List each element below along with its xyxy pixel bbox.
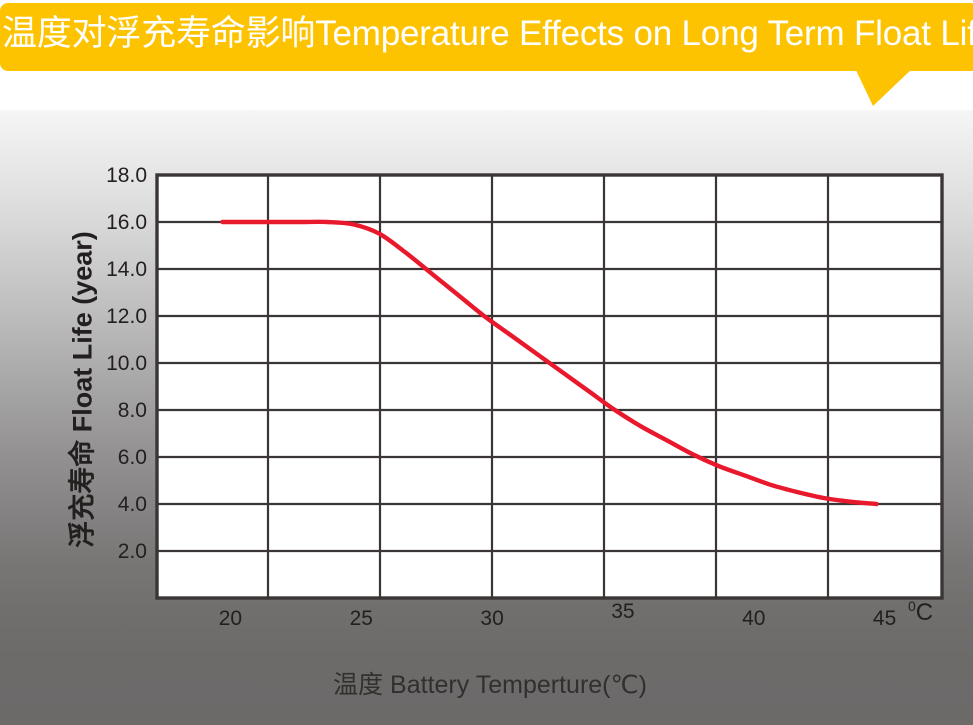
y-tick-label: 6.0 [118, 446, 147, 469]
y-tick-label: 2.0 [118, 540, 147, 563]
y-axis-tick-labels: 2.04.06.08.010.012.014.016.018.0 [106, 164, 147, 563]
x-axis-unit-label: 0C [908, 598, 933, 627]
y-tick-label: 4.0 [118, 493, 147, 516]
y-axis-title: 浮充寿命 Float Life (year) [61, 155, 100, 625]
x-axis-tick-labels: 202530354045 [219, 600, 897, 630]
y-tick-label: 18.0 [106, 164, 147, 187]
y-tick-label: 12.0 [106, 305, 147, 328]
x-tick-label: 35 [611, 600, 634, 623]
degree-superscript: 0 [908, 598, 916, 614]
x-tick-label: 20 [219, 607, 242, 630]
chart-page: 温度对浮充寿命影响Temperature Effects on Long Ter… [0, 0, 973, 725]
plot-background [157, 175, 942, 598]
chart-canvas: 2.04.06.08.010.012.014.016.018.0 2025303… [0, 0, 973, 725]
x-tick-label: 40 [742, 607, 765, 630]
x-tick-label: 30 [480, 607, 503, 630]
y-tick-label: 16.0 [106, 211, 147, 234]
x-tick-label: 45 [873, 607, 896, 630]
y-tick-label: 14.0 [106, 258, 147, 281]
celsius-letter: C [916, 599, 933, 626]
y-tick-label: 8.0 [118, 399, 147, 422]
x-tick-label: 25 [350, 607, 373, 630]
y-tick-label: 10.0 [106, 352, 147, 375]
x-axis-title: 温度 Battery Temperture(℃) [160, 665, 820, 701]
